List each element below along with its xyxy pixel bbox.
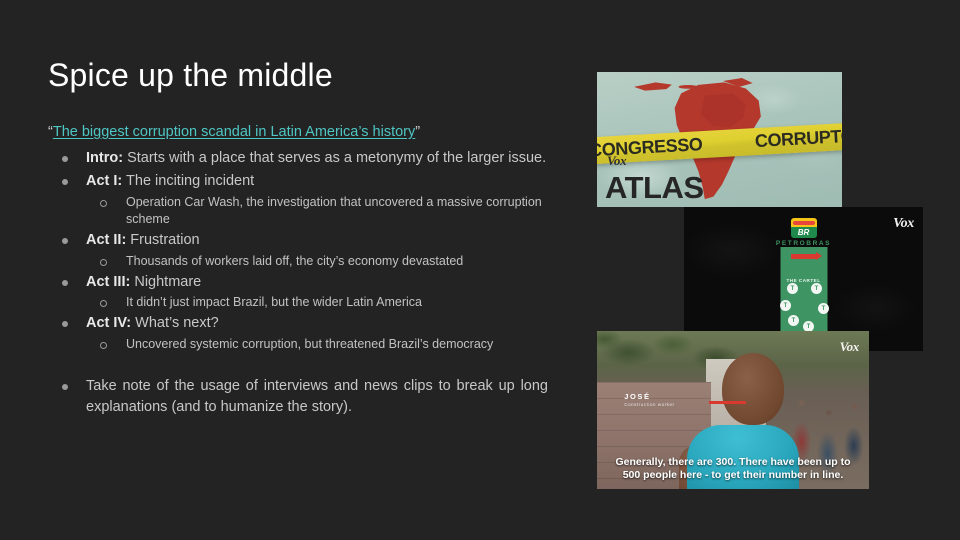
sub-bullet-text: Uncovered systemic corruption, but threa… — [126, 337, 493, 351]
sub-list-item: Operation Car Wash, the investigation th… — [86, 194, 548, 230]
closing-note-text: Take note of the usage of interviews and… — [86, 378, 548, 416]
bullet-lead: Act I: — [86, 173, 122, 189]
bullet-lead: Act IV: — [86, 315, 131, 331]
sub-list: Operation Car Wash, the investigation th… — [86, 194, 548, 230]
speaker-role: Construction worker — [624, 402, 674, 407]
vox-logo: Vox — [840, 339, 859, 355]
red-arrow-icon — [791, 254, 817, 259]
close-quote: ” — [415, 124, 420, 140]
cartel-node-icon: T — [787, 283, 798, 294]
sub-list: Uncovered systemic corruption, but threa… — [86, 336, 548, 354]
bullet-text: Frustration — [126, 232, 199, 248]
bullet-icon — [62, 280, 68, 286]
sub-bullet-icon — [100, 259, 107, 266]
bullet-icon — [62, 238, 68, 244]
list-item: Act IV: What’s next? Uncovered systemic … — [48, 313, 548, 354]
vox-logo: Vox — [607, 153, 626, 169]
bullet-icon — [62, 179, 68, 185]
sub-bullet-icon — [100, 342, 107, 349]
lower-third-rule — [709, 401, 746, 404]
bullet-text: The inciting incident — [122, 173, 254, 189]
sub-list: It didn’t just impact Brazil, but the wi… — [86, 294, 548, 312]
list-item: Act II: Frustration Thousands of workers… — [48, 230, 548, 271]
scandal-headline-link[interactable]: The biggest corruption scandal in Latin … — [53, 124, 415, 140]
bullet-text: What’s next? — [131, 315, 219, 331]
cartel-node-icon: T — [818, 303, 829, 314]
bullet-lead: Intro: — [86, 150, 123, 166]
speaker-name: JOSÉ — [624, 393, 674, 402]
interviewee-head-shape — [722, 353, 784, 425]
logo-br-text: BR — [791, 229, 817, 237]
image-petrobras-cartel-diagram: BR PETROBRAS THE CARTEL T T T T T T Vox — [684, 207, 923, 351]
presentation-slide: Spice up the middle “The biggest corrupt… — [0, 0, 960, 540]
list-item: Act III: Nightmare It didn’t just impact… — [48, 272, 548, 313]
headline-quote: “The biggest corruption scandal in Latin… — [48, 122, 548, 143]
bullet-text: Starts with a place that serves as a met… — [123, 150, 546, 166]
tape-text-right: CORRUPTO — [755, 126, 842, 153]
cartel-node-icon: T — [780, 300, 791, 311]
bullet-text: Nightmare — [130, 274, 201, 290]
image-interview-still: JOSÉ Construction worker Generally, ther… — [597, 331, 869, 489]
sub-bullet-text: It didn’t just impact Brazil, but the wi… — [126, 295, 422, 309]
list-item-closing-note: Take note of the usage of interviews and… — [48, 376, 548, 420]
bullet-lead: Act III: — [86, 274, 130, 290]
slide-body: “The biggest corruption scandal in Latin… — [48, 122, 548, 420]
lower-third: JOSÉ Construction worker — [624, 393, 674, 408]
list-item: Intro: Starts with a place that serves a… — [48, 148, 548, 170]
sub-list: Thousands of workers laid off, the city’… — [86, 253, 548, 271]
atlas-series-title: ATLAS — [605, 172, 704, 203]
subtitle-line-1: Generally, there are 300. There have bee… — [616, 456, 851, 468]
subtitle-caption: Generally, there are 300. There have bee… — [597, 456, 869, 482]
subtitle-line-2: 500 people here - to get their number in… — [623, 469, 844, 481]
sub-bullet-icon — [100, 200, 107, 207]
sub-list-item: Uncovered systemic corruption, but threa… — [86, 336, 548, 354]
petrobras-wordmark: PETROBRAS — [776, 240, 831, 247]
logo-swish-icon — [793, 221, 815, 225]
petrobras-br-logo-icon: BR — [791, 218, 817, 238]
outline-list: Intro: Starts with a place that serves a… — [48, 148, 548, 419]
bullet-icon — [62, 156, 68, 162]
bullet-icon — [62, 384, 68, 390]
vox-logo: Vox — [893, 216, 914, 232]
cartel-node-icon: T — [788, 315, 799, 326]
bullet-icon — [62, 321, 68, 327]
bullet-lead: Act II: — [86, 232, 126, 248]
list-item: Act I: The inciting incident Operation C… — [48, 171, 548, 229]
sub-bullet-text: Thousands of workers laid off, the city’… — [126, 254, 463, 268]
sub-list-item: Thousands of workers laid off, the city’… — [86, 253, 548, 271]
sub-bullet-text: Operation Car Wash, the investigation th… — [126, 195, 542, 227]
sub-bullet-icon — [100, 300, 107, 307]
page-title: Spice up the middle — [48, 57, 333, 94]
image-vox-atlas-map: CONGRESSO CORRUPTO Vox ATLAS — [597, 72, 842, 207]
cartel-node-icon: T — [811, 283, 822, 294]
sub-list-item: It didn’t just impact Brazil, but the wi… — [86, 294, 548, 312]
